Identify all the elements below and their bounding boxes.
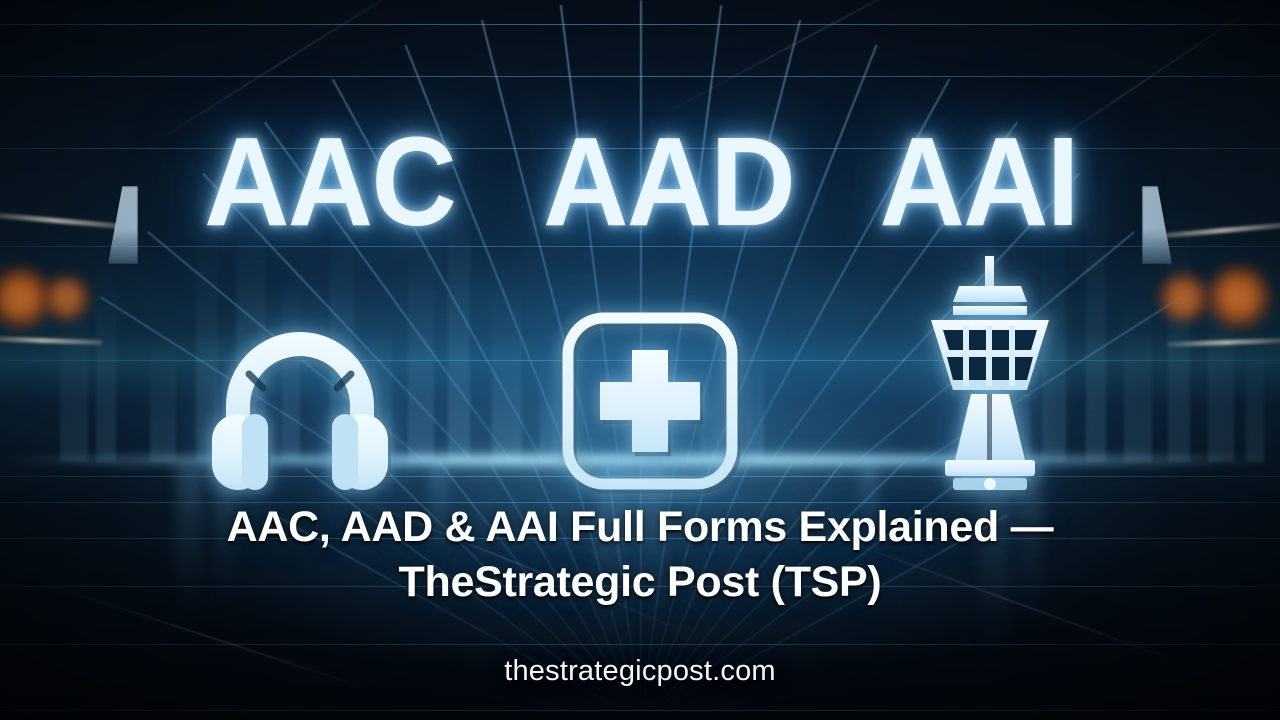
heading-aai: AAI <box>880 118 1078 247</box>
control-tower-icon <box>905 254 1075 492</box>
acronym-headings: AAC AAD AAI <box>0 118 1280 247</box>
heading-aad: AAD <box>543 118 794 247</box>
title-block: AAC, AAD & AAI Full Forms Explained — Th… <box>0 500 1280 610</box>
hero-banner: AAC AAD AAI <box>0 0 1280 720</box>
icon-slot-aai <box>895 254 1085 492</box>
title-line-2: TheStrategic Post (TSP) <box>0 555 1280 610</box>
icon-slot-aac <box>195 302 405 492</box>
site-url: thestrategicpost.com <box>0 655 1280 688</box>
headphones-icon <box>200 302 400 492</box>
icon-slot-aad <box>555 310 745 492</box>
heading-aac: AAC <box>204 118 455 247</box>
medical-cross-icon <box>560 310 740 492</box>
icon-row <box>0 262 1280 492</box>
title-line-1: AAC, AAD & AAI Full Forms Explained — <box>0 500 1280 555</box>
